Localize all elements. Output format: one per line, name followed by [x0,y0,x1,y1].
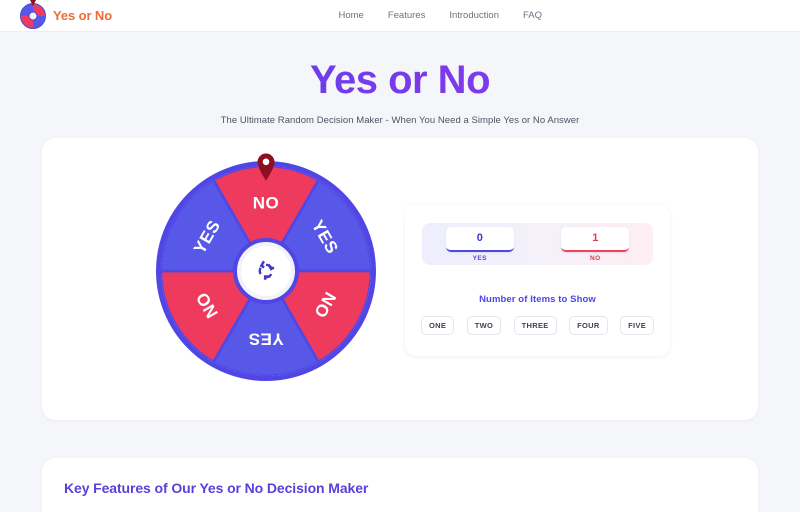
spin-button[interactable] [233,238,299,304]
controls-panel: 0 YES 1 NO Number of Items to Show ONE T… [405,204,670,356]
wheel-segment-label: NO [253,194,280,213]
nav-item-introduction[interactable]: Introduction [449,10,499,21]
features-card: Key Features of Our Yes or No Decision M… [42,458,758,512]
items-count-label: Number of Items to Show [405,294,670,305]
item-count-five[interactable]: FIVE [620,316,654,335]
page-title: Yes or No [0,57,800,103]
item-count-three[interactable]: THREE [514,316,557,335]
logo-pointer-icon [30,0,36,6]
map-pin-pointer-icon [255,152,277,182]
item-count-two[interactable]: TWO [467,316,501,335]
brand-name: Yes or No [53,8,112,23]
brand-logo-link[interactable]: Yes or No [20,3,112,29]
wheel-disc[interactable]: NOYESNOYESNOYES [156,161,376,381]
nav-item-faq[interactable]: FAQ [523,10,542,21]
item-count-four[interactable]: FOUR [569,316,607,335]
main-navigation: Home Features Introduction FAQ [338,10,542,21]
score-yes-value: 0 [446,227,514,252]
site-header: Yes or No Home Features Introduction FAQ [0,0,800,32]
score-no-caption: NO [561,255,629,262]
nav-item-home[interactable]: Home [338,10,363,21]
hero-section: Yes or No The Ultimate Random Decision M… [0,32,800,126]
items-count-options: ONE TWO THREE FOUR FIVE [421,316,654,335]
features-title: Key Features of Our Yes or No Decision M… [64,480,368,496]
page-root: Yes or No Home Features Introduction FAQ… [0,0,800,512]
score-no-value: 1 [561,227,629,252]
wheel-segment-label: YES [248,330,284,349]
page-subtitle: The Ultimate Random Decision Maker - Whe… [0,115,800,126]
score-yes: 0 YES [446,227,514,262]
spin-wheel[interactable]: NOYESNOYESNOYES [156,152,376,372]
wheel-logo-icon [20,3,46,29]
recycle-refresh-icon [253,258,279,284]
score-no: 1 NO [561,227,629,262]
item-count-one[interactable]: ONE [421,316,454,335]
logo-hub-icon [29,11,38,20]
nav-item-features[interactable]: Features [388,10,426,21]
score-row: 0 YES 1 NO [422,223,653,265]
score-yes-caption: YES [446,255,514,262]
